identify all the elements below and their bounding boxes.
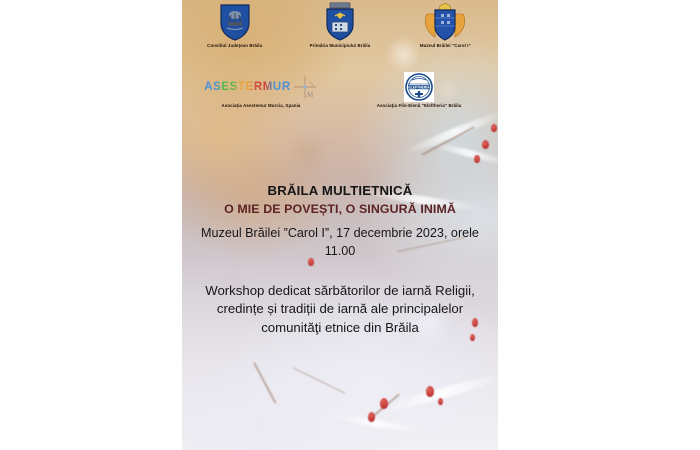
logo-caption: Asociaţia Asestemur Murcia, Spania [222, 104, 301, 109]
poster-body-paragraph: Workshop dedicat sărbătorilor de iarnă R… [182, 282, 498, 338]
logo-muzeul-brailei-carol-i[interactable]: Muzeul Brăilei "Carol I" [393, 2, 497, 49]
shield-crest-icon [322, 2, 358, 42]
poster-title-main: BRĂILA MULTIETNICĂ [182, 182, 498, 200]
logo-caption: Asociaţia Filo-Elenă "Eleftheria" Brăila [377, 104, 462, 109]
screenshot-root: Consiliul Judeţean Brăila Primăria Munic… [0, 0, 700, 450]
partner-logos-row-secondary: ASESTERMUR M Asociaţia Asestemur Murcia,… [182, 72, 498, 109]
logo-consiliul-judetean-braila[interactable]: Consiliul Judeţean Brăila [183, 2, 287, 49]
logo-caption: Primăria Municipiului Brăila [310, 44, 371, 49]
event-poster: Consiliul Judeţean Brăila Primăria Munic… [182, 0, 498, 450]
logo-eleftheria[interactable]: ELEFTHERIA Asociaţia Filo-Elenă "Elefthe… [346, 72, 491, 109]
poster-title-subtitle: O MIE DE POVEȘTI, O SINGURĂ INIMĂ [182, 200, 498, 219]
asestermur-wordmark-text: ASESTERMUR [204, 81, 291, 93]
partner-logos-row-primary: Consiliul Judeţean Brăila Primăria Munic… [182, 2, 498, 49]
logo-caption: Muzeul Brăilei "Carol I" [420, 44, 471, 49]
logo-asestermur[interactable]: ASESTERMUR M Asociaţia Asestemur Murcia,… [188, 72, 333, 109]
svg-text:M: M [307, 91, 314, 99]
shield-crest-icon [423, 2, 467, 42]
shield-crest-icon [217, 2, 253, 42]
circular-seal-icon: ELEFTHERIA [404, 72, 434, 102]
logo-primaria-municipiului-braila[interactable]: Primăria Municipiului Brăila [288, 2, 392, 49]
poster-venue-datetime: Muzeul Brăilei ”Carol I”, 17 decembrie 2… [182, 225, 498, 260]
logo-caption: Consiliul Judeţean Brăila [207, 44, 262, 49]
compass-cross-icon: M [292, 73, 318, 101]
poster-text-block: BRĂILA MULTIETNICĂ O MIE DE POVEȘTI, O S… [182, 182, 498, 338]
svg-text:ELEFTHERIA: ELEFTHERIA [408, 86, 430, 90]
asestermur-wordmark-icon: ASESTERMUR M [204, 72, 318, 102]
